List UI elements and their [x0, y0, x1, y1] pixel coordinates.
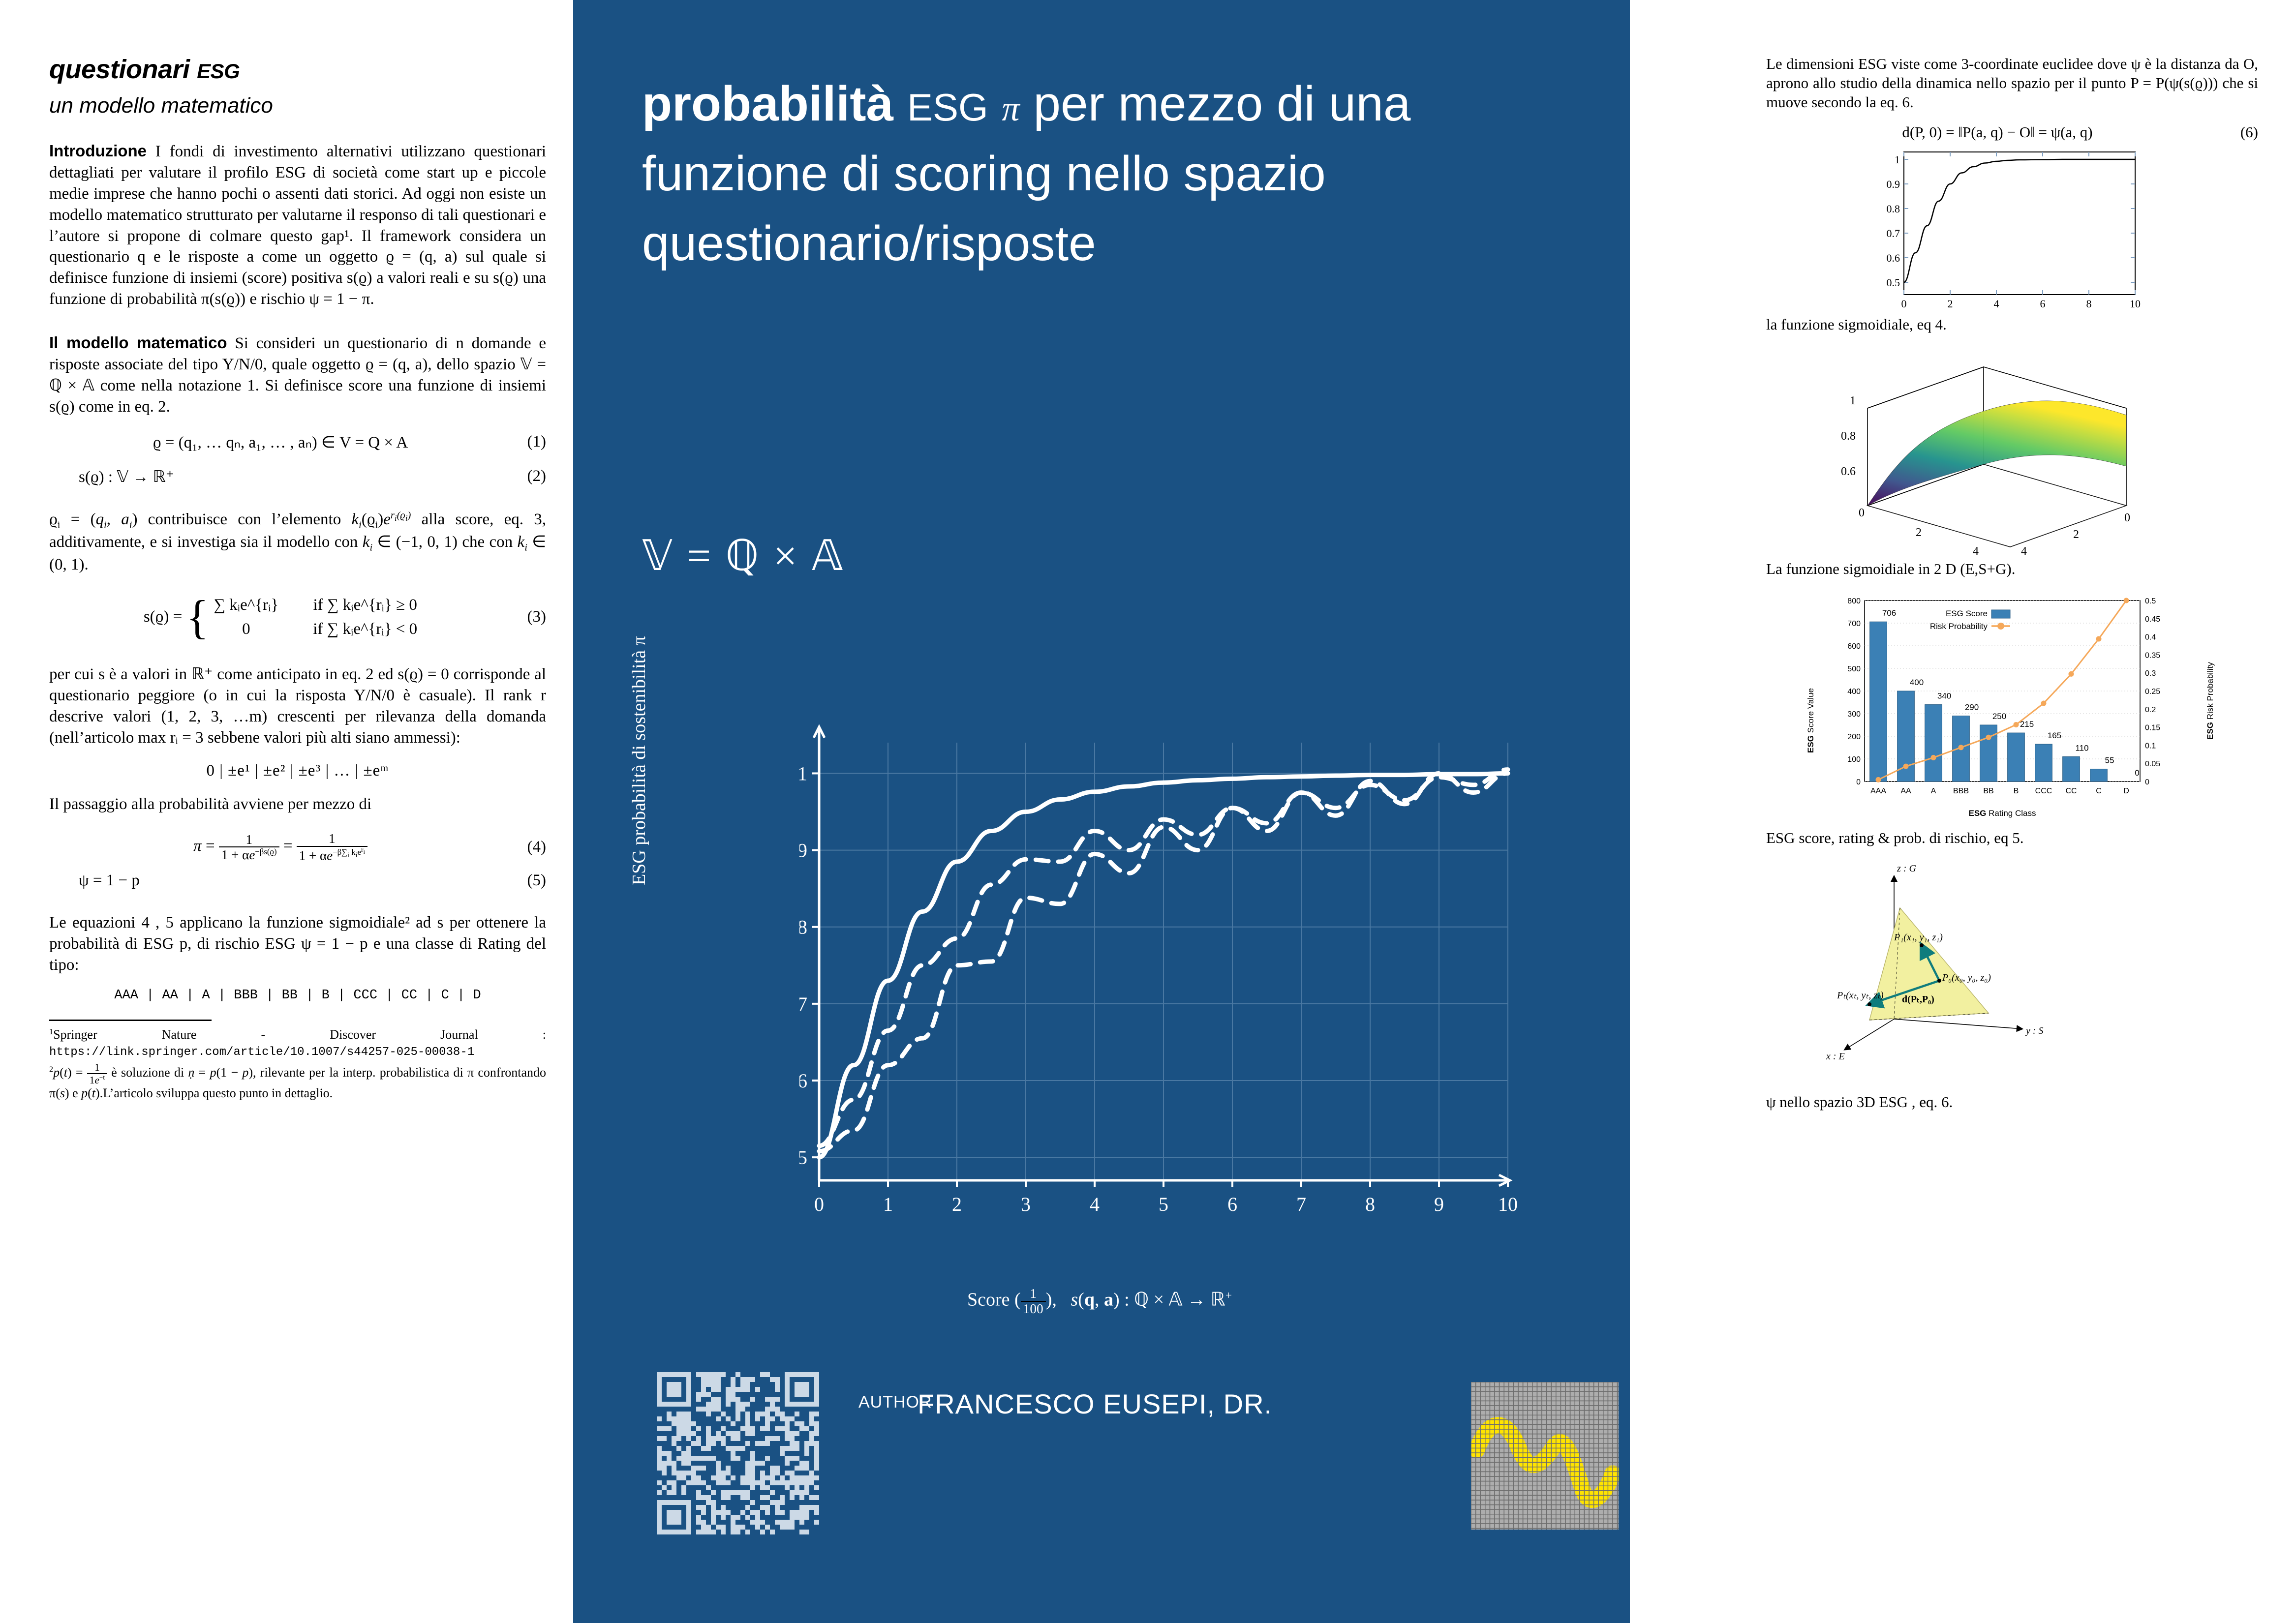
footnote-1-text: Springer Nature - Discover Journal : — [53, 1027, 546, 1042]
rank-values-line: 0 | ±e¹ | ±e² | ±e³ | … | ±eᵐ — [49, 762, 546, 780]
bar-xtick-C: C — [2096, 787, 2102, 795]
footnote-1: 1Springer Nature - Discover Journal : ht… — [49, 1027, 546, 1060]
qr-code[interactable] — [657, 1372, 819, 1534]
bar-xtick-AAA: AAA — [1870, 787, 1886, 795]
svg-text:2: 2 — [1948, 298, 1953, 310]
svg-text:0.8: 0.8 — [1887, 203, 1900, 215]
rank-paragraph: per cui s è a valori in ℝ⁺ come anticipa… — [49, 664, 546, 749]
bar-BB — [1980, 725, 1997, 781]
bar-chart-legend: ESG Score Risk Probability — [1930, 609, 2010, 631]
equation-5-number: (5) — [512, 872, 546, 890]
svg-text:600: 600 — [1847, 642, 1861, 651]
equation-1-row: ϱ = (q₁, … qₙ, a₁, … , aₙ) ∈ V = Q × A (… — [49, 432, 546, 452]
bar-label-AA: 400 — [1910, 678, 1924, 687]
svg-text:Risk Probability: Risk Probability — [1930, 622, 1988, 631]
model-paragraph: Il modello matematico Si consideri un qu… — [49, 332, 546, 418]
svg-text:9: 9 — [1434, 1193, 1444, 1215]
svg-text:ESG Risk Probability: ESG Risk Probability — [2205, 662, 2215, 740]
svg-text:y : S: y : S — [2025, 1025, 2044, 1036]
svg-text:300: 300 — [1847, 710, 1861, 719]
svg-text:1: 1 — [883, 1193, 893, 1215]
equation-1: ϱ = (q₁, … qₙ, a₁, … , aₙ) ∈ V = Q × A — [49, 432, 512, 452]
poster-title-text: questionari — [49, 55, 190, 84]
equation-2: s(ϱ) : 𝕍 → ℝ⁺ — [49, 467, 512, 486]
svg-text:500: 500 — [1847, 665, 1861, 673]
sigmoid-paragraph: Le equazioni 4 , 5 applicano la funzione… — [49, 912, 546, 976]
esg-rating-bar-chart: 706400340290250215165110550 010020030040… — [1791, 588, 2234, 824]
svg-text:8: 8 — [2086, 298, 2092, 310]
svg-text:0.7: 0.7 — [1887, 227, 1900, 240]
bar-xtick-CCC: CCC — [2035, 787, 2052, 795]
equation-6-row: d(P, 0) = ‖P(a, q) − O‖ = ψ(a, q) (6) — [1766, 123, 2258, 141]
intro-heading: Introduzione — [49, 142, 147, 160]
figure-rating-caption: ESG score, rating & prob. di rischio, eq… — [1766, 829, 2258, 847]
svg-text:0.9: 0.9 — [1887, 178, 1900, 190]
figure-3d-caption: ψ nello spazio 3D ESG , eq. 6. — [1766, 1093, 2258, 1111]
equation-1-number: (1) — [512, 433, 546, 451]
figure-sigmoid-caption: la funzione sigmoidiale, eq 4. — [1766, 316, 2258, 333]
figure-surface-caption: La funzione sigmoidiale in 2 D (E,S+G). — [1766, 560, 2258, 578]
bar-xtick-CC: CC — [2065, 787, 2077, 795]
svg-text:d(Pₜ,P₀): d(Pₜ,P₀) — [1902, 994, 1934, 1005]
svg-text:0.1: 0.1 — [2145, 742, 2156, 751]
figure-sigmoid: 0.50.60.70.80.91 0246810 — [1766, 148, 2258, 313]
figure-surface-3d: 0.60.81024420 — [1766, 343, 2258, 557]
center-panel: probabilità ESG π per mezzo di una funzi… — [573, 0, 1630, 1623]
svg-text:5: 5 — [1159, 1193, 1168, 1215]
main-chart: ESG probabilità di sostenibilità π Score… — [632, 723, 1567, 1328]
bar-label-AAA: 706 — [1882, 608, 1896, 618]
svg-text:ESG Rating Class: ESG Rating Class — [1968, 809, 2036, 818]
equation-4-row: π = 11 + αe−βs(ϱ) = 11 + αe−β∑i kieri (4… — [49, 832, 546, 862]
footnote-2: 2p(t) = 11e−t è soluzione di ṇ = p(1 − p… — [49, 1062, 546, 1102]
svg-text:0.9: 0.9 — [799, 840, 807, 862]
svg-text:8: 8 — [1365, 1193, 1375, 1215]
main-chart-ylabel: ESG probabilità di sostenibilità π — [628, 636, 650, 885]
svg-text:P₁(x₁, y₁, z₁): P₁(x₁, y₁, z₁) — [1894, 932, 1943, 943]
svg-text:6: 6 — [2040, 298, 2046, 310]
panel-title-esg: ESG — [907, 86, 988, 129]
bar-xtick-BB: BB — [1983, 787, 1993, 795]
right-column: Le dimensioni ESG viste come 3-coordinat… — [1766, 54, 2258, 1121]
bar-label-BB: 250 — [1992, 712, 2006, 721]
svg-text:x : E: x : E — [1826, 1051, 1845, 1062]
bar-A — [1925, 705, 1942, 781]
bar-xtick-B: B — [2014, 787, 2019, 795]
svg-text:0.25: 0.25 — [2145, 688, 2160, 696]
footnote-rule — [49, 1020, 212, 1021]
svg-text:0.6: 0.6 — [799, 1070, 807, 1092]
svg-text:z : G: z : G — [1897, 863, 1916, 874]
svg-text:0: 0 — [1856, 778, 1861, 786]
right-intro-paragraph: Le dimensioni ESG viste come 3-coordinat… — [1766, 54, 2258, 112]
svg-text:2: 2 — [2073, 528, 2079, 541]
figure-3d-simplex: z : G y : S x : E P₁(x₁, y₁, z₁) P₀(x₀, … — [1766, 857, 2258, 1090]
svg-text:0.6: 0.6 — [1887, 252, 1900, 264]
equation-3-lhs: s(ϱ) = — [144, 608, 182, 626]
svg-text:7: 7 — [1296, 1193, 1306, 1215]
equation-3: s(ϱ) = { ∑ kᵢe^{rᵢ} if ∑ kᵢe^{rᵢ} ≥ 0 0 … — [49, 593, 512, 641]
footnote-1-marker: 1 — [49, 1028, 53, 1036]
svg-text:0.6: 0.6 — [1841, 465, 1856, 478]
equation-3-row: s(ϱ) = { ∑ kᵢe^{rᵢ} if ∑ kᵢe^{rᵢ} ≥ 0 0 … — [49, 593, 546, 641]
svg-text:100: 100 — [1847, 755, 1861, 764]
svg-text:0.5: 0.5 — [2145, 597, 2156, 605]
bar-xtick-A: A — [1931, 787, 1936, 795]
equation-2-row: s(ϱ) : 𝕍 → ℝ⁺ (2) — [49, 467, 546, 486]
svg-text:0.7: 0.7 — [799, 993, 807, 1015]
equation-6-number: (6) — [2229, 123, 2258, 141]
equation-4-number: (4) — [512, 838, 546, 856]
contribution-paragraph: ϱi = (qi, ai) contribuisce con l’element… — [49, 509, 546, 575]
equation-3-case1-cond: if ∑ kᵢe^{rᵢ} ≥ 0 — [313, 593, 417, 617]
poster-title: questionari ESG — [49, 54, 546, 85]
svg-text:0: 0 — [2124, 511, 2130, 524]
svg-text:1: 1 — [1895, 153, 1900, 166]
bar-label-A: 340 — [1937, 691, 1951, 701]
sigmoid-3d-surface: 0.60.81024420 — [1820, 343, 2204, 555]
svg-text:4: 4 — [1973, 545, 1979, 555]
equation-6: d(P, 0) = ‖P(a, q) − O‖ = ψ(a, q) — [1766, 123, 2229, 141]
svg-text:4: 4 — [2021, 545, 2027, 555]
left-column: questionari ESG un modello matematico In… — [49, 54, 546, 1559]
equation-5: ψ = 1 − p — [49, 872, 512, 890]
svg-text:1: 1 — [1850, 394, 1856, 407]
psi-3d-diagram: z : G y : S x : E P₁(x₁, y₁, z₁) P₀(x₀, … — [1815, 857, 2209, 1088]
svg-text:4: 4 — [1090, 1193, 1100, 1215]
svg-text:0: 0 — [814, 1193, 824, 1215]
svg-text:700: 700 — [1847, 620, 1861, 628]
author-name: FRANCESCO EUSEPI, DR. — [918, 1388, 1272, 1420]
sigmoid-small-chart: 0.50.60.70.80.91 0246810 — [1874, 148, 2150, 310]
equation-5-row: ψ = 1 − p (5) — [49, 872, 546, 890]
equation-3-brace: { — [186, 600, 209, 634]
svg-text:6: 6 — [1227, 1193, 1237, 1215]
svg-text:10: 10 — [2130, 298, 2141, 310]
svg-text:0: 0 — [1859, 507, 1865, 519]
bar-CCC — [2035, 744, 2052, 781]
svg-text:0.45: 0.45 — [2145, 615, 2160, 624]
svg-text:0.5: 0.5 — [1887, 276, 1900, 289]
svg-text:800: 800 — [1847, 597, 1861, 605]
poster-title-esg: ESG — [197, 60, 240, 83]
svg-text:0.5: 0.5 — [799, 1146, 807, 1169]
intro-body: I fondi di investimento alternativi util… — [49, 143, 546, 308]
equation-4: π = 11 + αe−βs(ϱ) = 11 + αe−β∑i kieri — [49, 832, 512, 862]
bar-label-C: 55 — [2105, 756, 2114, 765]
svg-text:2: 2 — [952, 1193, 962, 1215]
bar-label-CC: 110 — [2075, 744, 2088, 753]
panel-space-equation: 𝕍 = ℚ × 𝔸 — [642, 531, 845, 580]
svg-text:0: 0 — [2145, 778, 2149, 786]
panel-title: probabilità ESG π per mezzo di una funzi… — [642, 69, 1567, 278]
svg-text:0.15: 0.15 — [2145, 724, 2160, 732]
surface-mesh — [1867, 401, 2126, 506]
panel-title-bold: probabilità — [642, 76, 893, 131]
main-chart-xlabel: Score (1100), s(q, a) : ℚ × 𝔸 → ℝ+ — [632, 1287, 1567, 1316]
svg-text:0.8: 0.8 — [1841, 430, 1856, 443]
equation-3-case1-value: ∑ kᵢe^{rᵢ} — [214, 593, 313, 617]
bar-xtick-D: D — [2123, 787, 2129, 795]
svg-text:0.8: 0.8 — [799, 916, 807, 938]
svg-text:Pₜ(xₜ, yₜ, zₜ): Pₜ(xₜ, yₜ, zₜ) — [1837, 990, 1884, 1001]
model-heading: Il modello matematico — [49, 333, 227, 352]
equation-3-case2-cond: if ∑ kᵢe^{rᵢ} < 0 — [313, 617, 417, 641]
svg-text:0.3: 0.3 — [2145, 669, 2156, 678]
bar-label-BBB: 290 — [1965, 703, 1979, 712]
svg-text:ESG Score Value: ESG Score Value — [1806, 688, 1815, 753]
svg-text:4: 4 — [1994, 298, 1999, 310]
footnote-1-url[interactable]: https://link.springer.com/article/10.100… — [49, 1046, 474, 1059]
bar-B — [2008, 733, 2025, 781]
poster-root: questionari ESG un modello matematico In… — [0, 0, 2296, 1623]
bar-label-D: 0 — [2135, 768, 2139, 778]
svg-text:10: 10 — [1498, 1193, 1518, 1215]
bar-xtick-AA: AA — [1900, 787, 1911, 795]
footnote-2-marker: 2 — [49, 1066, 53, 1074]
bar-label-CCC: 165 — [2048, 731, 2061, 740]
svg-text:2: 2 — [1916, 526, 1922, 539]
panel-title-pi: π — [1002, 89, 1019, 128]
bar-CC — [2063, 757, 2080, 782]
svg-text:0.4: 0.4 — [2145, 633, 2156, 642]
bar-C — [2090, 769, 2108, 781]
svg-text:P₀(x₀, y₀, z₀): P₀(x₀, y₀, z₀) — [1942, 972, 1991, 983]
svg-text:3: 3 — [1021, 1193, 1031, 1215]
svg-text:400: 400 — [1847, 688, 1861, 696]
wave-logo — [1471, 1382, 1619, 1530]
contribution-text: ϱi = (qi, ai) contribuisce con l’element… — [49, 511, 546, 573]
bar-AAA — [1870, 622, 1887, 781]
bar-xtick-BBB: BBB — [1953, 787, 1969, 795]
svg-text:1: 1 — [799, 762, 807, 784]
svg-text:0.35: 0.35 — [2145, 652, 2160, 660]
svg-text:0.2: 0.2 — [2145, 706, 2156, 714]
svg-text:200: 200 — [1847, 733, 1861, 741]
svg-text:ESG Score: ESG Score — [1946, 609, 1988, 618]
intro-paragraph: Introduzione I fondi di investimento alt… — [49, 141, 546, 310]
rating-classes-line: AAA | AA | A | BBB | BB | B | CCC | CC |… — [49, 988, 546, 1003]
equation-2-number: (2) — [512, 467, 546, 485]
probability-paragraph: Il passaggio alla probabilità avviene pe… — [49, 794, 546, 815]
equation-3-number: (3) — [512, 608, 546, 626]
figure-rating-bars: 706400340290250215165110550 010020030040… — [1766, 588, 2258, 826]
svg-text:0: 0 — [1901, 298, 1907, 310]
svg-text:0.05: 0.05 — [2145, 760, 2160, 768]
equation-3-case2-value: 0 — [214, 617, 313, 641]
main-chart-plot: 0.50.60.70.80.91 012345678910 — [799, 723, 1518, 1215]
poster-subtitle: un modello matematico — [49, 93, 546, 118]
